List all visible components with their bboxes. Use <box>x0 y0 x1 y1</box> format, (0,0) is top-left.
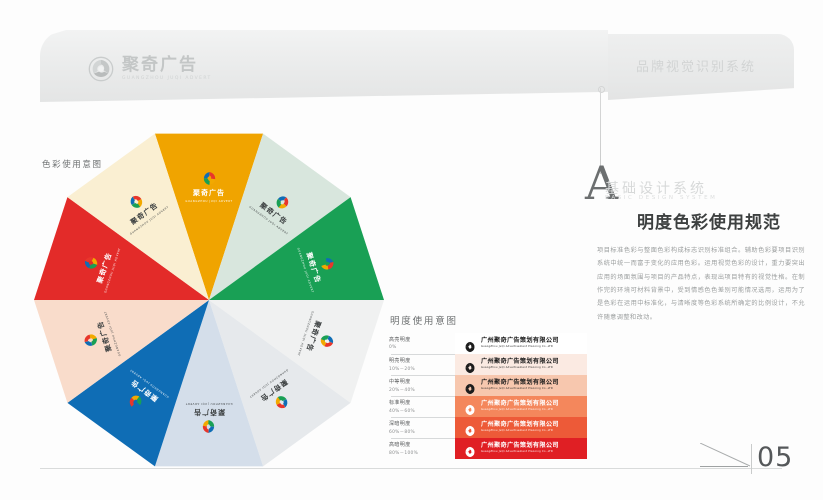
slide-canvas: 品牌视觉识别系统 聚奇广告 GUANGZHOU JUQI ADVERT A 基础… <box>0 0 823 500</box>
brightness-legend-range: 0% <box>389 345 451 350</box>
aperture-logo-icon <box>464 443 476 455</box>
brand-logo: 聚奇广告 GUANGZHOU JUQI ADVERT <box>88 56 212 82</box>
brightness-row-text: 广州聚奇广告策划有限公司GuangZhou JuQi Advertisement… <box>481 359 559 369</box>
brightness-legend-range: 20%－40% <box>389 387 451 393</box>
brightness-row[interactable]: 广州聚奇广告策划有限公司GuangZhou JuQi Advertisement… <box>455 333 587 354</box>
brand-name-en: GUANGZHOU JUQI ADVERT <box>122 77 212 82</box>
page-title: 明度色彩使用规范 <box>637 208 781 233</box>
brightness-legend: 标准明度40%－60% <box>389 399 451 414</box>
brightness-row-text: 广州聚奇广告策划有限公司GuangZhou JuQi Advertisement… <box>481 380 559 390</box>
page-tick-diagonal <box>700 443 752 467</box>
section-label-en: BASIC DESIGN SYSTEM <box>605 195 718 201</box>
page-number: 05 <box>757 442 793 473</box>
brightness-table: 高亮明度0%广州聚奇广告策划有限公司GuangZhou JuQi Adverti… <box>389 333 587 459</box>
company-name-cn: 广州聚奇广告策划有限公司 <box>481 338 559 344</box>
brightness-legend-divider <box>391 438 455 439</box>
brightness-legend: 明亮明度10%－20% <box>389 357 451 372</box>
table-caption: 明度使用意图 <box>390 313 458 327</box>
brightness-legend: 中等明度20%－40% <box>389 378 451 393</box>
brightness-legend-range: 60%－80% <box>389 429 451 435</box>
company-name-en: GuangZhou JuQi Advertisement Planning Co… <box>481 346 559 348</box>
company-name-en: GuangZhou JuQi Advertisement Planning Co… <box>481 409 559 411</box>
brightness-legend-label: 深暗明度 <box>389 420 451 427</box>
brightness-row[interactable]: 广州聚奇广告策划有限公司GuangZhou JuQi Advertisement… <box>455 438 587 459</box>
company-name-cn: 广州聚奇广告策划有限公司 <box>481 443 559 449</box>
brightness-legend: 深暗明度60%－80% <box>389 420 451 435</box>
brightness-legend: 高暗明度80%－100% <box>389 441 451 456</box>
brand-name-cn: 聚奇广告 <box>122 57 212 74</box>
brightness-legend: 高亮明度0% <box>389 336 451 350</box>
brand-logo-text: 聚奇广告 GUANGZHOU JUQI ADVERT <box>122 57 212 82</box>
brightness-legend-divider <box>391 375 455 376</box>
aperture-logo-icon <box>464 422 476 434</box>
brightness-legend-divider <box>391 417 455 418</box>
brightness-legend-label: 高暗明度 <box>389 441 451 448</box>
aperture-logo-icon <box>464 380 476 392</box>
company-name-en: GuangZhou JuQi Advertisement Planning Co… <box>481 430 559 432</box>
brightness-legend-range: 10%－20% <box>389 366 451 372</box>
brightness-row[interactable]: 广州聚奇广告策划有限公司GuangZhou JuQi Advertisement… <box>455 417 587 438</box>
brightness-legend-label: 明亮明度 <box>389 357 451 364</box>
aperture-logo-icon <box>88 56 114 82</box>
company-name-cn: 广州聚奇广告策划有限公司 <box>481 359 559 365</box>
brightness-row-text: 广州聚奇广告策划有限公司GuangZhou JuQi Advertisement… <box>481 443 559 453</box>
brightness-legend-divider <box>391 396 455 397</box>
brightness-legend-label: 高亮明度 <box>389 336 451 343</box>
company-name-en: GuangZhou JuQi Advertisement Planning Co… <box>481 388 559 390</box>
footer-divider <box>40 468 782 469</box>
company-name-cn: 广州聚奇广告策划有限公司 <box>481 401 559 407</box>
header-ribbon-right: 品牌视觉识别系统 <box>608 34 794 100</box>
brightness-row-text: 广州聚奇广告策划有限公司GuangZhou JuQi Advertisement… <box>481 401 559 411</box>
section-body-text: 项目标准色彩与整面色彩构成标志识别标准组合。辅助色彩要项目识别系统中统一而富于变… <box>597 244 805 324</box>
page-tick-horizontal <box>700 466 748 467</box>
brightness-legend-range: 40%－60% <box>389 408 451 414</box>
brightness-legend-range: 80%－100% <box>389 450 451 456</box>
aperture-logo-icon <box>464 401 476 413</box>
header-right-title: 品牌视觉识别系统 <box>636 56 756 75</box>
company-name-cn: 广州聚奇广告策划有限公司 <box>481 380 559 386</box>
brightness-row-text: 广州聚奇广告策划有限公司GuangZhou JuQi Advertisement… <box>481 338 559 348</box>
company-name-cn: 广州聚奇广告策划有限公司 <box>481 422 559 428</box>
aperture-logo-icon <box>464 359 476 371</box>
brightness-legend-divider <box>391 354 455 355</box>
color-wheel-svg <box>29 120 389 480</box>
brightness-row-text: 广州聚奇广告策划有限公司GuangZhou JuQi Advertisement… <box>481 422 559 432</box>
brightness-row[interactable]: 广州聚奇广告策划有限公司GuangZhou JuQi Advertisement… <box>455 354 587 375</box>
brightness-legend-label: 中等明度 <box>389 378 451 385</box>
brightness-row[interactable]: 广州聚奇广告策划有限公司GuangZhou JuQi Advertisement… <box>455 375 587 396</box>
aperture-logo-icon <box>464 338 476 350</box>
brightness-row[interactable]: 广州聚奇广告策划有限公司GuangZhou JuQi Advertisement… <box>455 396 587 417</box>
company-name-en: GuangZhou JuQi Advertisement Planning Co… <box>481 367 559 369</box>
color-wheel: 聚奇广告GUANGZHOU JUQI ADVERT聚奇广告GUANGZHOU J… <box>29 120 389 480</box>
company-name-en: GuangZhou JuQi Advertisement Planning Co… <box>481 451 559 453</box>
brightness-legend-label: 标准明度 <box>389 399 451 406</box>
page-number-rule <box>751 444 752 474</box>
